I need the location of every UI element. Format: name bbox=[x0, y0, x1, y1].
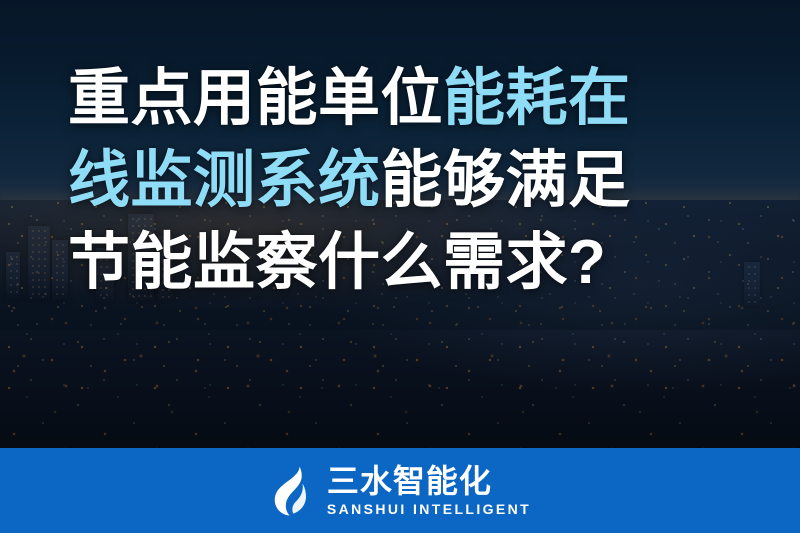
headline-segment: 重点用能单位 bbox=[68, 64, 443, 133]
headline-segment-accent: 线监测系统 bbox=[68, 146, 381, 215]
headline-line-3: 节能监察什么需求? bbox=[68, 222, 748, 304]
headline-segment: 能够满足 bbox=[381, 146, 631, 215]
poster-canvas: 重点用能单位能耗在 线监测系统能够满足 节能监察什么需求? 三水智能化 SANS… bbox=[0, 0, 800, 533]
brand-footer-bar: 三水智能化 SANSHUI INTELLIGENT bbox=[0, 448, 800, 533]
water-drop-flame-icon bbox=[269, 465, 313, 517]
headline-segment: 节能监察什么需求? bbox=[68, 228, 606, 297]
brand-lockup: 三水智能化 SANSHUI INTELLIGENT bbox=[269, 465, 531, 517]
brand-name-cn: 三水智能化 bbox=[327, 465, 492, 497]
brand-name-en: SANSHUI INTELLIGENT bbox=[327, 502, 531, 516]
brand-text-lockup: 三水智能化 SANSHUI INTELLIGENT bbox=[327, 465, 531, 516]
headline-line-1: 重点用能单位能耗在 bbox=[68, 58, 748, 140]
headline-block: 重点用能单位能耗在 线监测系统能够满足 节能监察什么需求? bbox=[68, 58, 748, 304]
headline-segment-accent: 能耗在 bbox=[443, 64, 631, 133]
headline-line-2: 线监测系统能够满足 bbox=[68, 140, 748, 222]
